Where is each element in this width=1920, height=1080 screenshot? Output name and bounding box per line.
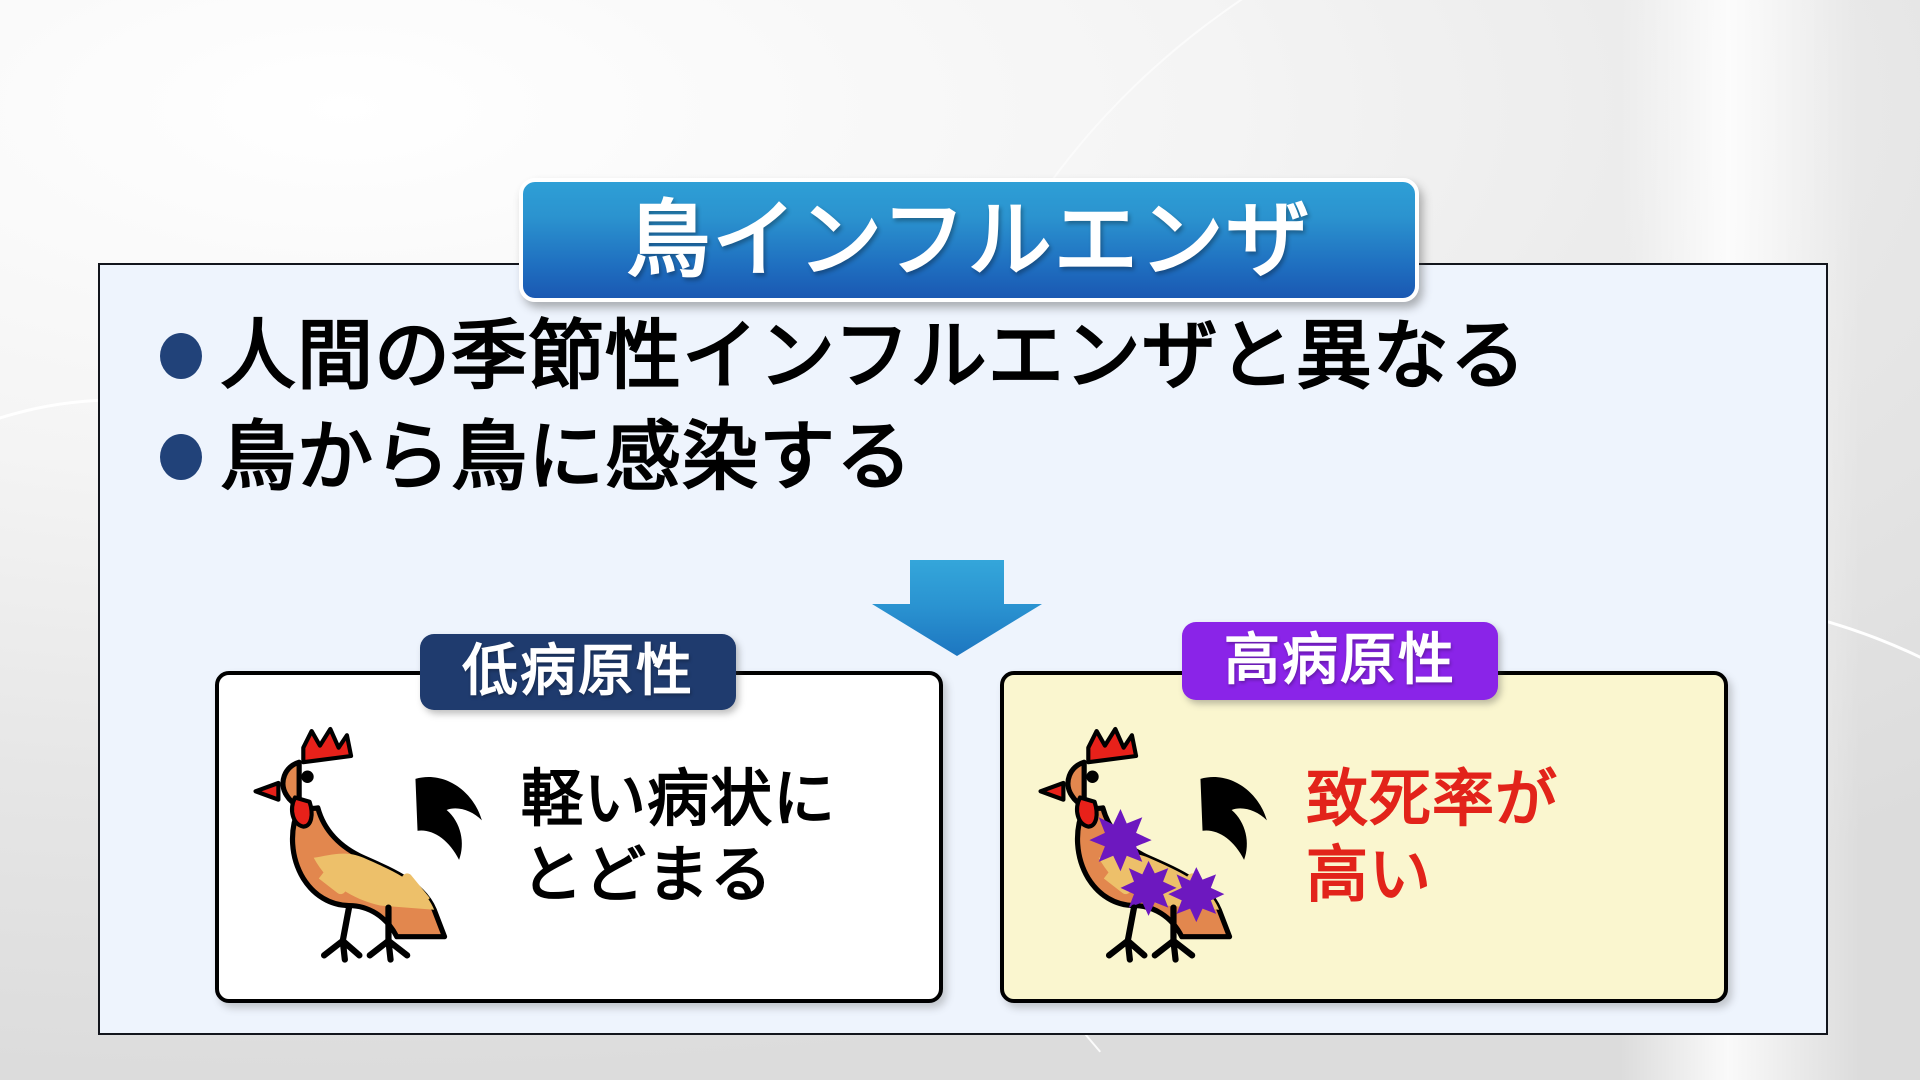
slide-canvas: 人間の季節性インフルエンザと異なる 鳥から鳥に感染する 鳥インフルエンザ [0,0,1920,1080]
bullet-text: 人間の季節性インフルエンザと異なる [220,313,1527,398]
card-high-pathogenicity: 致死率が 高い [1000,671,1728,1003]
infected-chicken-icon [1026,702,1296,972]
list-item: 人間の季節性インフルエンザと異なる [160,313,1527,398]
card-low-body: 軽い病状に とどまる [521,761,836,912]
card-low-body-line2: とどまる [521,837,836,913]
card-high-content: 致死率が 高い [1004,675,1724,999]
down-arrow-icon [872,560,1042,656]
label-high-text: 高病原性 [1224,633,1456,689]
card-low-pathogenicity: 軽い病状に とどまる [215,671,943,1003]
bullet-list: 人間の季節性インフルエンザと異なる 鳥から鳥に感染する [160,313,1527,499]
list-item: 鳥から鳥に感染する [160,414,1527,499]
slide-title-banner: 鳥インフルエンザ [519,178,1419,302]
label-low-text: 低病原性 [462,644,694,700]
page-title: 鳥インフルエンザ [626,198,1311,282]
card-high-body-line2: 高い [1306,837,1558,913]
card-low-content: 軽い病状に とどまる [219,675,939,999]
bullet-dot-icon [160,434,202,480]
card-low-body-line1: 軽い病状に [521,761,836,837]
card-high-body: 致死率が 高い [1306,761,1558,912]
bullet-text: 鳥から鳥に感染する [220,414,913,499]
card-high-body-line1: 致死率が [1306,761,1558,837]
healthy-chicken-icon [241,702,511,972]
label-high-pathogenicity: 高病原性 [1182,622,1498,700]
label-low-pathogenicity: 低病原性 [420,634,736,710]
bullet-dot-icon [160,333,202,379]
